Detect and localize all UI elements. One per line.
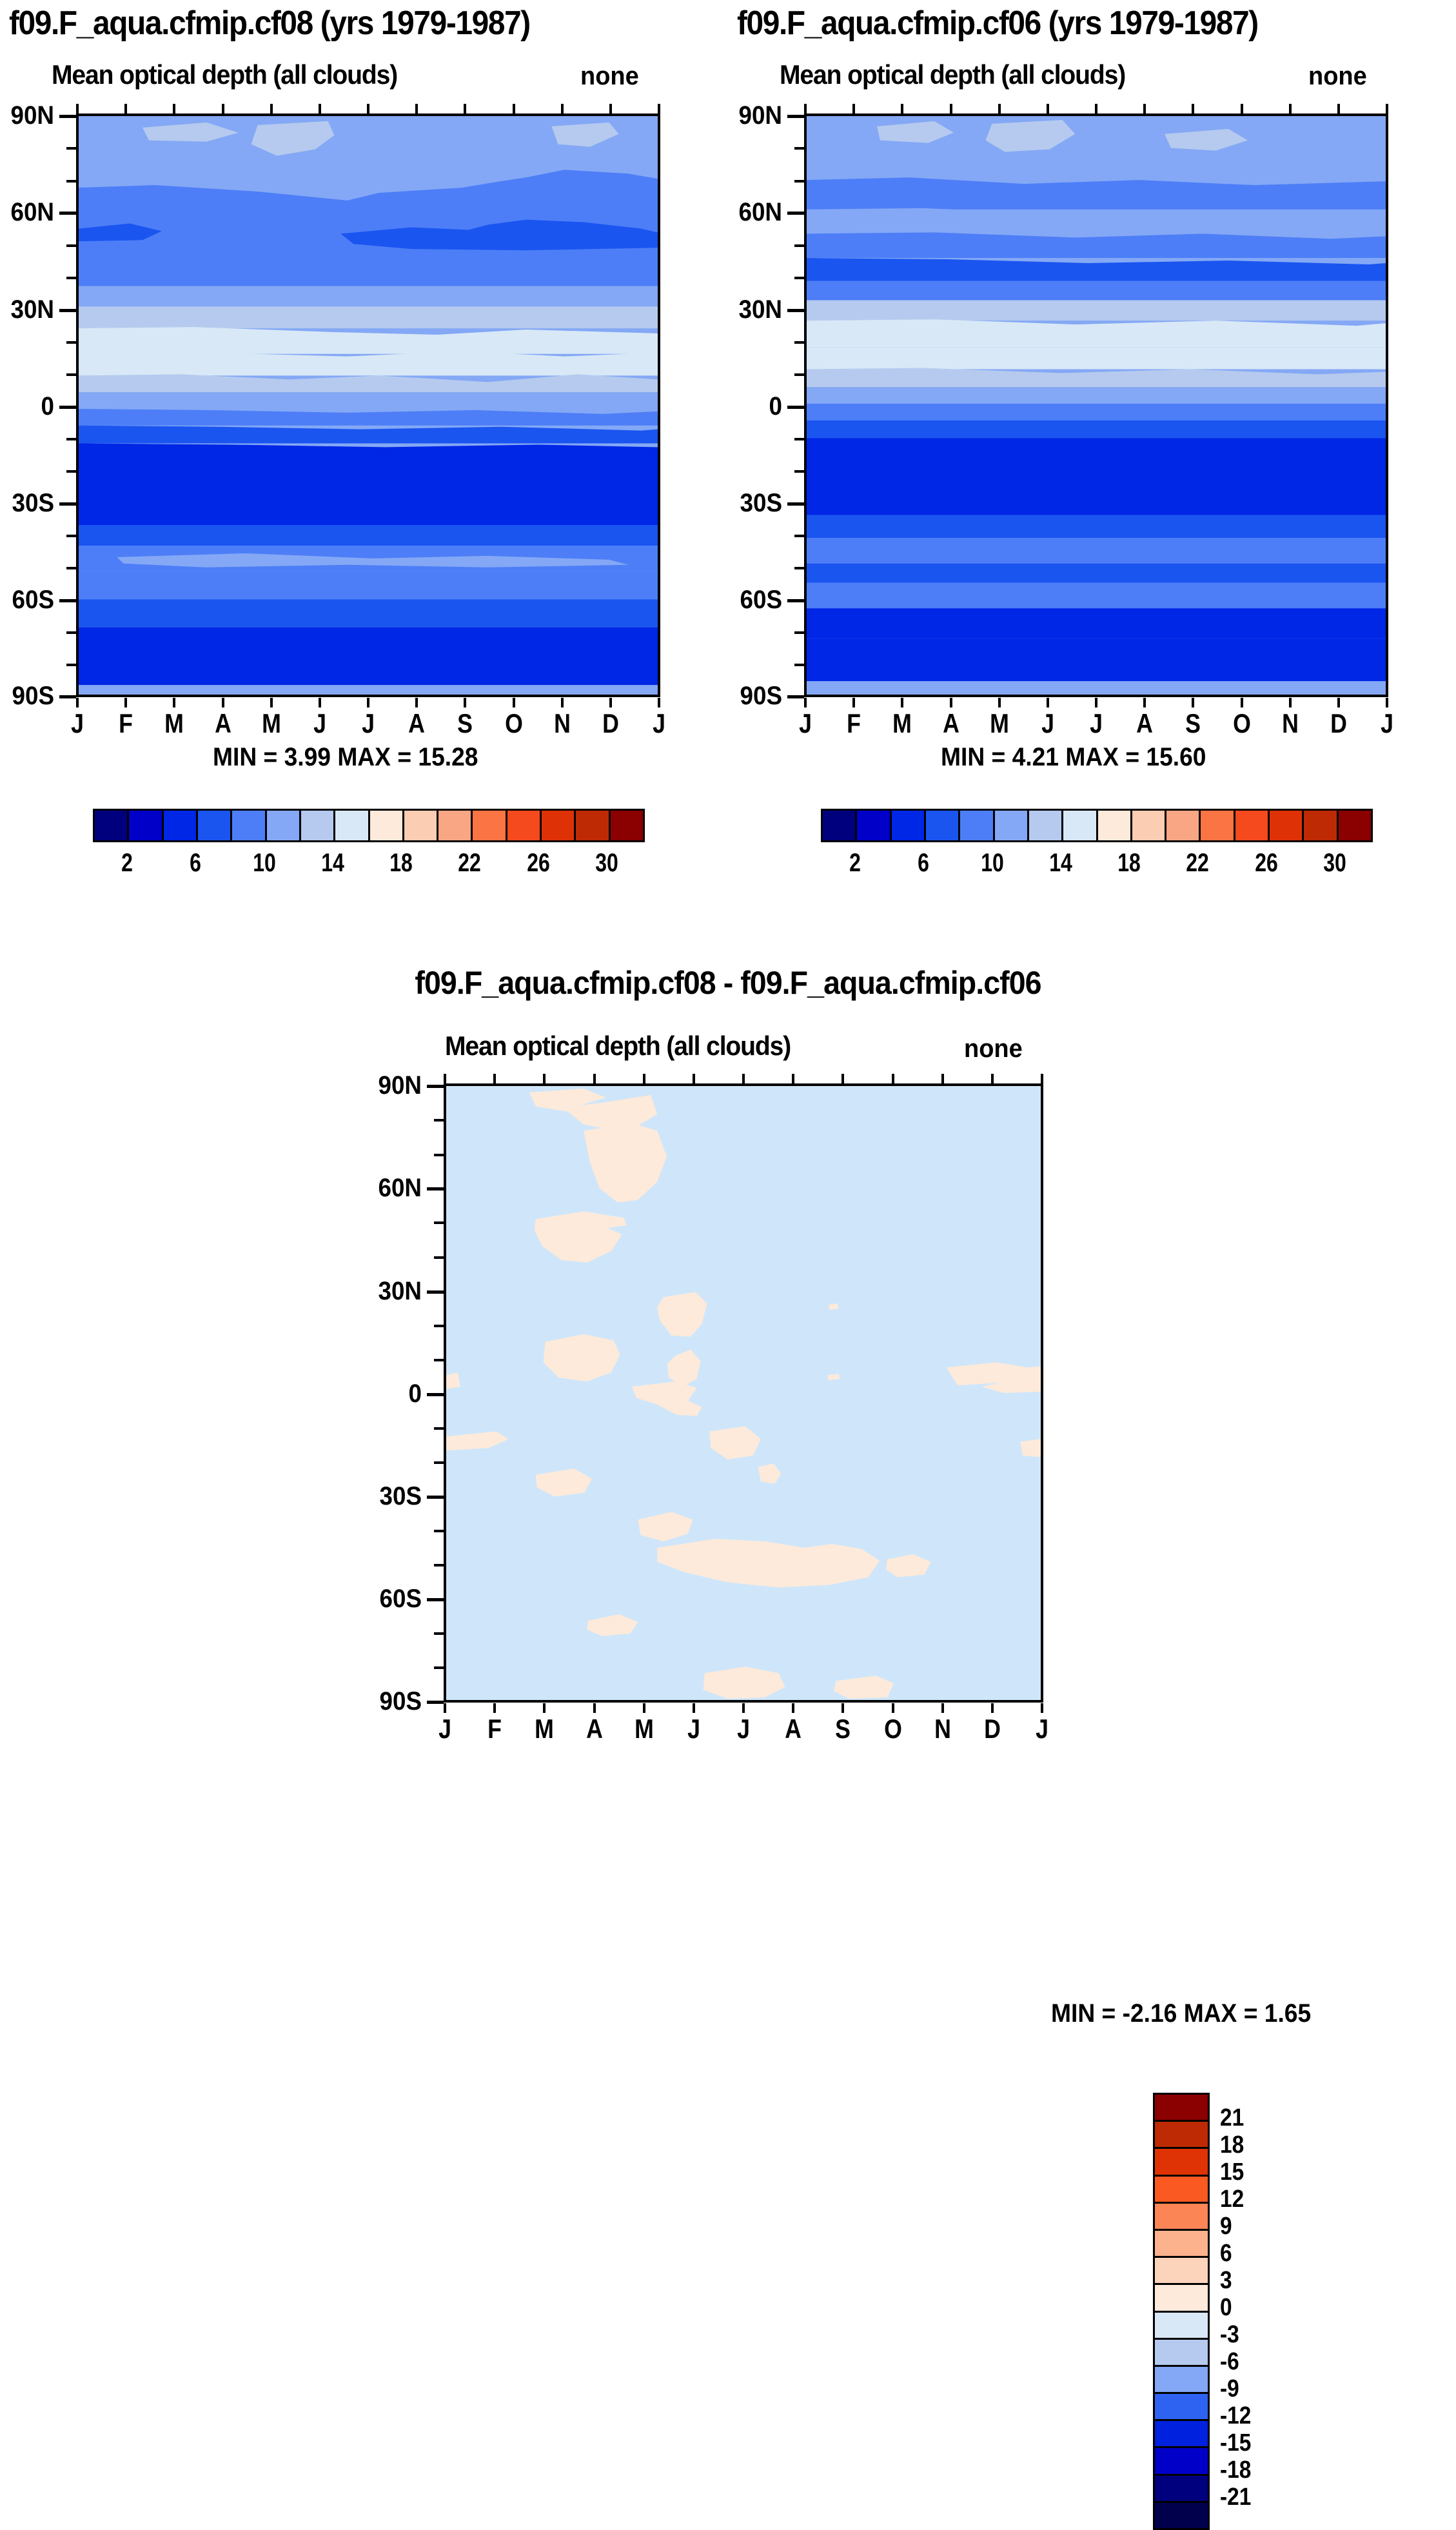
y-tick-minor-9 [66, 535, 76, 537]
y-tick-minor-12 [794, 664, 804, 666]
y-tick-minor-1 [66, 147, 76, 150]
colorbar-cell-7 [335, 811, 369, 840]
colorbar-cell-1 [129, 811, 163, 840]
y-label-30N: 30N [0, 295, 54, 324]
x-tick-bottom-J-5 [1047, 698, 1049, 707]
y-tick-minor-6 [66, 373, 76, 376]
x-tick-bottom-A-7 [792, 1703, 794, 1713]
diff-colorbar-label-0: 0 [1220, 2294, 1232, 2322]
y-label-90S: 90S [727, 682, 782, 711]
x-tick-bottom-D-11 [1337, 698, 1340, 707]
y-tick-30N [427, 1290, 444, 1294]
x-tick-bottom-F-1 [852, 698, 855, 707]
y-tick-minor-6 [434, 1359, 444, 1361]
x-label-8: S [443, 708, 487, 739]
y-tick-30N [787, 309, 804, 312]
colorbar-cell-2 [164, 811, 198, 840]
x-tick-top-J-0 [804, 104, 807, 114]
x-label-9: O [871, 1714, 915, 1744]
right-panel-title: f09.F_aqua.cfmip.cf06 (yrs 1979-1987) [737, 4, 1258, 43]
colorbar-label-6: 6 [170, 849, 221, 878]
colorbar-label-2: 2 [101, 849, 153, 878]
x-tick-top-D-11 [1337, 104, 1340, 114]
x-tick-top-M-2 [901, 104, 903, 114]
colorbar-cell-10 [438, 811, 473, 840]
x-tick-bottom-M-4 [643, 1703, 645, 1713]
diff-colorbar-label--15: -15 [1220, 2429, 1251, 2457]
y-label-60N: 60N [727, 198, 782, 227]
x-tick-bottom-A-3 [222, 698, 224, 707]
diff-colorbar-label--3: -3 [1220, 2321, 1239, 2349]
colorbar-cell-5 [267, 811, 301, 840]
x-label-6: J [1074, 708, 1118, 739]
diff-colorbar-cell-10 [1155, 2367, 1208, 2394]
colorbar-cell-11 [473, 811, 507, 840]
x-tick-bottom-O-9 [892, 1703, 894, 1713]
right-colorbar [821, 809, 1373, 842]
x-tick-top-J-6 [742, 1074, 745, 1083]
right-minmax: MIN = 4.21 MAX = 15.60 [941, 743, 1206, 772]
y-label-0: 0 [727, 392, 782, 421]
y-tick-minor-2 [66, 180, 76, 183]
left-panel-units: none [580, 62, 639, 91]
colorbar-cell-9 [404, 811, 438, 840]
diff-colorbar-cell-9 [1155, 2340, 1208, 2367]
left-contour-field [79, 116, 658, 695]
y-label-90N: 90N [727, 101, 782, 130]
x-label-1: F [832, 708, 876, 739]
x-tick-bottom-D-11 [609, 698, 612, 707]
y-tick-minor-11 [794, 631, 804, 634]
left-plot-area [76, 114, 660, 697]
difference-minmax: MIN = -2.16 MAX = 1.65 [1051, 1999, 1311, 2028]
colorbar-cell-8 [1098, 811, 1132, 840]
x-label-8: S [821, 1714, 865, 1744]
diff-colorbar-cell-2 [1155, 2149, 1208, 2176]
x-label-6: J [722, 1714, 765, 1744]
y-tick-minor-8 [794, 470, 804, 473]
y-tick-minor-7 [434, 1427, 444, 1430]
x-tick-bottom-D-11 [991, 1703, 994, 1713]
x-tick-top-F-1 [852, 104, 855, 114]
diff-colorbar-cell-8 [1155, 2313, 1208, 2340]
colorbar-cell-3 [198, 811, 232, 840]
x-label-6: J [346, 708, 390, 739]
x-label-3: A [201, 708, 245, 739]
y-tick-minor-8 [434, 1461, 444, 1464]
colorbar-cell-3 [926, 811, 960, 840]
x-tick-top-N-10 [1289, 104, 1292, 114]
x-tick-top-A-7 [1143, 104, 1146, 114]
y-tick-30S [59, 502, 76, 506]
diff-colorbar-cell-15 [1155, 2503, 1208, 2528]
x-tick-top-F-1 [124, 104, 127, 114]
x-label-7: A [395, 708, 438, 739]
x-label-2: M [152, 708, 196, 739]
y-label-30N: 30N [727, 295, 782, 324]
colorbar-label-14: 14 [1035, 849, 1087, 878]
x-tick-top-J-12 [658, 104, 660, 114]
colorbar-label-14: 14 [307, 849, 359, 878]
x-label-10: N [1268, 708, 1312, 739]
x-tick-bottom-J-0 [444, 1703, 446, 1713]
colorbar-cell-7 [1063, 811, 1097, 840]
y-tick-minor-2 [794, 180, 804, 183]
x-tick-top-F-1 [493, 1074, 496, 1083]
difference-contour-field [446, 1086, 1041, 1700]
panel-difference: f09.F_aqua.cfmip.cf08 - f09.F_aqua.cfmip… [0, 903, 1456, 1712]
x-tick-top-M-4 [998, 104, 1001, 114]
right-plot-area [804, 114, 1388, 697]
colorbar-cell-0 [823, 811, 857, 840]
colorbar-cell-15 [1339, 811, 1371, 840]
colorbar-label-18: 18 [375, 849, 427, 878]
x-tick-top-N-10 [941, 1074, 944, 1083]
x-tick-top-O-9 [1241, 104, 1243, 114]
y-tick-0 [59, 406, 76, 409]
y-label-30S: 30S [367, 1482, 422, 1511]
y-tick-minor-1 [794, 147, 804, 150]
x-tick-top-A-3 [222, 104, 224, 114]
y-tick-30S [787, 502, 804, 506]
x-tick-bottom-J-12 [658, 698, 660, 707]
y-tick-minor-5 [794, 341, 804, 344]
x-tick-bottom-J-6 [367, 698, 369, 707]
x-tick-bottom-M-2 [173, 698, 175, 707]
y-tick-90S [59, 695, 76, 698]
y-tick-minor-9 [434, 1530, 444, 1532]
x-tick-top-J-12 [1386, 104, 1388, 114]
x-tick-bottom-O-9 [1241, 698, 1243, 707]
x-tick-bottom-F-1 [124, 698, 127, 707]
x-label-10: N [921, 1714, 965, 1744]
y-tick-minor-6 [794, 373, 804, 376]
colorbar-cell-1 [857, 811, 891, 840]
diff-colorbar-cell-11 [1155, 2394, 1208, 2421]
colorbar-label-22: 22 [1172, 849, 1223, 878]
x-tick-bottom-S-8 [1192, 698, 1194, 707]
y-tick-90N [59, 115, 76, 118]
diff-colorbar-label--18: -18 [1220, 2456, 1251, 2484]
x-tick-bottom-M-2 [901, 698, 903, 707]
x-tick-top-M-2 [173, 104, 175, 114]
x-tick-bottom-J-6 [1095, 698, 1097, 707]
x-label-3: A [573, 1714, 616, 1744]
x-tick-top-J-6 [1095, 104, 1097, 114]
diff-colorbar-label--21: -21 [1220, 2484, 1251, 2511]
y-label-60N: 60N [0, 198, 54, 227]
x-tick-top-S-8 [1192, 104, 1194, 114]
left-panel-title: f09.F_aqua.cfmip.cf08 (yrs 1979-1987) [9, 4, 530, 43]
x-label-11: D [589, 708, 633, 739]
diff-colorbar-label-9: 9 [1220, 2213, 1232, 2240]
x-tick-bottom-A-7 [415, 698, 418, 707]
y-tick-minor-10 [434, 1564, 444, 1566]
diff-colorbar-cell-7 [1155, 2285, 1208, 2312]
y-tick-minor-12 [66, 664, 76, 666]
colorbar-label-18: 18 [1103, 849, 1155, 878]
y-label-30N: 30N [367, 1277, 422, 1306]
y-tick-minor-9 [794, 535, 804, 537]
colorbar-cell-12 [507, 811, 542, 840]
colorbar-cell-9 [1132, 811, 1166, 840]
x-label-2: M [522, 1714, 566, 1744]
x-tick-top-J-12 [1041, 1074, 1043, 1083]
diff-colorbar-cell-14 [1155, 2476, 1208, 2503]
x-tick-bottom-J-12 [1386, 698, 1388, 707]
left-colorbar [93, 809, 645, 842]
x-tick-top-A-3 [593, 1074, 596, 1083]
x-label-12: J [637, 708, 681, 739]
diff-colorbar-cell-0 [1155, 2095, 1208, 2122]
x-label-5: J [298, 708, 342, 739]
x-tick-bottom-J-6 [742, 1703, 745, 1713]
y-label-60N: 60N [367, 1174, 422, 1203]
colorbar-cell-14 [576, 811, 610, 840]
colorbar-label-30: 30 [1309, 849, 1361, 878]
colorbar-cell-12 [1235, 811, 1270, 840]
x-tick-top-D-11 [609, 104, 612, 114]
y-tick-minor-5 [66, 341, 76, 344]
x-tick-top-S-8 [464, 104, 466, 114]
difference-units: none [964, 1034, 1023, 1063]
colorbar-cell-10 [1166, 811, 1201, 840]
colorbar-cell-15 [611, 811, 643, 840]
x-tick-bottom-F-1 [493, 1703, 496, 1713]
diff-colorbar-label-3: 3 [1220, 2267, 1232, 2295]
y-tick-60S [787, 599, 804, 602]
diff-colorbar-label--12: -12 [1220, 2402, 1251, 2430]
y-tick-90S [787, 695, 804, 698]
y-tick-minor-11 [434, 1632, 444, 1635]
colorbar-label-26: 26 [1241, 849, 1292, 878]
y-label-0: 0 [367, 1379, 422, 1408]
x-tick-top-A-3 [950, 104, 952, 114]
x-label-12: J [1020, 1714, 1064, 1744]
x-label-0: J [783, 708, 827, 739]
difference-title: f09.F_aqua.cfmip.cf08 - f09.F_aqua.cfmip… [51, 964, 1405, 1002]
x-tick-bottom-M-2 [543, 1703, 546, 1713]
difference-plot-area [444, 1083, 1043, 1703]
diff-colorbar-cell-1 [1155, 2122, 1208, 2149]
diff-colorbar-cell-5 [1155, 2231, 1208, 2258]
x-tick-bottom-J-0 [76, 698, 79, 707]
y-tick-minor-4 [434, 1256, 444, 1259]
left-panel-subtitle: Mean optical depth (all clouds) [52, 59, 397, 90]
x-tick-bottom-N-10 [1289, 698, 1292, 707]
x-label-1: F [473, 1714, 516, 1744]
x-tick-top-O-9 [513, 104, 515, 114]
y-tick-30N [59, 309, 76, 312]
panel-right: f09.F_aqua.cfmip.cf06 (yrs 1979-1987) Me… [728, 0, 1456, 903]
x-tick-bottom-N-10 [941, 1703, 944, 1713]
diff-colorbar-label-12: 12 [1220, 2186, 1244, 2213]
x-label-3: A [929, 708, 973, 739]
y-label-90N: 90N [0, 101, 54, 130]
y-tick-minor-10 [794, 567, 804, 569]
x-tick-top-J-5 [693, 1074, 695, 1083]
x-tick-top-A-7 [792, 1074, 794, 1083]
x-label-4: M [978, 708, 1021, 739]
x-label-11: D [970, 1714, 1014, 1744]
diff-colorbar-label--9: -9 [1220, 2375, 1239, 2403]
y-label-90S: 90S [367, 1687, 422, 1716]
y-tick-30S [427, 1496, 444, 1499]
colorbar-label-22: 22 [444, 849, 495, 878]
y-tick-90S [427, 1701, 444, 1704]
y-tick-minor-11 [66, 631, 76, 634]
x-tick-bottom-A-3 [950, 698, 952, 707]
colorbar-cell-4 [232, 811, 266, 840]
colorbar-cell-13 [542, 811, 576, 840]
y-tick-minor-3 [66, 244, 76, 247]
right-panel-subtitle: Mean optical depth (all clouds) [780, 59, 1125, 90]
x-tick-bottom-M-4 [998, 698, 1001, 707]
diff-colorbar-label-21: 21 [1220, 2104, 1244, 2132]
y-tick-minor-8 [66, 470, 76, 473]
difference-subtitle: Mean optical depth (all clouds) [445, 1031, 791, 1062]
x-tick-top-J-6 [367, 104, 369, 114]
difference-colorbar [1153, 2093, 1210, 2530]
diff-colorbar-label-6: 6 [1220, 2240, 1232, 2268]
diff-colorbar-cell-12 [1155, 2421, 1208, 2448]
x-tick-top-A-7 [415, 104, 418, 114]
diff-colorbar-cell-4 [1155, 2204, 1208, 2231]
x-tick-top-O-9 [892, 1074, 894, 1083]
colorbar-label-10: 10 [239, 849, 290, 878]
x-tick-top-S-8 [841, 1074, 844, 1083]
x-tick-top-M-4 [643, 1074, 645, 1083]
y-label-60S: 60S [727, 586, 782, 615]
x-tick-bottom-S-8 [841, 1703, 844, 1713]
y-label-90S: 90S [0, 682, 54, 711]
colorbar-cell-11 [1201, 811, 1235, 840]
x-tick-bottom-S-8 [464, 698, 466, 707]
panel-left: f09.F_aqua.cfmip.cf08 (yrs 1979-1987) Me… [0, 0, 728, 903]
x-label-11: D [1317, 708, 1361, 739]
x-label-9: O [492, 708, 536, 739]
diff-colorbar-label-15: 15 [1220, 2159, 1244, 2186]
x-label-2: M [880, 708, 924, 739]
y-tick-minor-7 [66, 438, 76, 440]
y-tick-60N [427, 1187, 444, 1191]
x-tick-bottom-O-9 [513, 698, 515, 707]
y-label-30S: 30S [0, 489, 54, 518]
left-minmax: MIN = 3.99 MAX = 15.28 [213, 743, 478, 772]
y-tick-minor-2 [434, 1154, 444, 1156]
x-tick-bottom-N-10 [561, 698, 564, 707]
y-tick-minor-7 [794, 438, 804, 440]
right-panel-units: none [1308, 62, 1367, 91]
diff-colorbar-cell-6 [1155, 2258, 1208, 2285]
colorbar-cell-8 [370, 811, 404, 840]
x-tick-top-M-2 [543, 1074, 546, 1083]
y-label-90N: 90N [367, 1071, 422, 1100]
colorbar-cell-13 [1270, 811, 1304, 840]
x-tick-bottom-A-7 [1143, 698, 1146, 707]
right-contour-field [807, 116, 1386, 695]
colorbar-cell-14 [1304, 811, 1338, 840]
colorbar-cell-0 [95, 811, 129, 840]
x-label-1: F [104, 708, 148, 739]
x-label-4: M [622, 1714, 666, 1744]
colorbar-label-10: 10 [967, 849, 1018, 878]
x-tick-bottom-J-0 [804, 698, 807, 707]
y-tick-minor-4 [66, 277, 76, 279]
x-tick-bottom-A-3 [593, 1703, 596, 1713]
colorbar-cell-6 [301, 811, 335, 840]
y-label-0: 0 [0, 392, 54, 421]
x-tick-top-N-10 [561, 104, 564, 114]
y-tick-minor-5 [434, 1325, 444, 1327]
x-tick-bottom-M-4 [270, 698, 273, 707]
x-tick-bottom-J-12 [1041, 1703, 1043, 1713]
y-tick-minor-12 [434, 1666, 444, 1669]
y-tick-60S [427, 1598, 444, 1601]
colorbar-label-26: 26 [513, 849, 564, 878]
x-label-0: J [423, 1714, 467, 1744]
x-label-0: J [55, 708, 99, 739]
diff-colorbar-cell-3 [1155, 2177, 1208, 2204]
y-tick-minor-4 [794, 277, 804, 279]
x-tick-top-J-5 [319, 104, 321, 114]
x-tick-top-J-5 [1047, 104, 1049, 114]
y-tick-0 [787, 406, 804, 409]
colorbar-label-6: 6 [898, 849, 949, 878]
x-label-5: J [672, 1714, 716, 1744]
x-label-7: A [771, 1714, 815, 1744]
colorbar-cell-4 [960, 811, 994, 840]
x-label-12: J [1365, 708, 1409, 739]
diff-colorbar-cell-13 [1155, 2448, 1208, 2475]
y-tick-60N [59, 212, 76, 215]
y-tick-0 [427, 1393, 444, 1396]
colorbar-label-2: 2 [829, 849, 881, 878]
y-tick-60N [787, 212, 804, 215]
x-label-9: O [1220, 708, 1264, 739]
diff-colorbar-label--6: -6 [1220, 2348, 1239, 2376]
x-tick-top-J-0 [444, 1074, 446, 1083]
colorbar-cell-5 [995, 811, 1029, 840]
colorbar-cell-6 [1029, 811, 1063, 840]
y-tick-minor-3 [434, 1221, 444, 1224]
y-label-30S: 30S [727, 489, 782, 518]
y-tick-90N [427, 1085, 444, 1088]
x-label-8: S [1171, 708, 1215, 739]
x-tick-top-D-11 [991, 1074, 994, 1083]
y-label-60S: 60S [367, 1585, 422, 1614]
y-tick-60S [59, 599, 76, 602]
colorbar-label-30: 30 [581, 849, 633, 878]
x-label-10: N [540, 708, 584, 739]
y-tick-minor-3 [794, 244, 804, 247]
y-label-60S: 60S [0, 586, 54, 615]
colorbar-cell-2 [892, 811, 926, 840]
x-tick-top-M-4 [270, 104, 273, 114]
x-tick-bottom-J-5 [693, 1703, 695, 1713]
x-label-4: M [250, 708, 293, 739]
y-tick-minor-1 [434, 1119, 444, 1122]
x-label-5: J [1026, 708, 1070, 739]
y-tick-minor-10 [66, 567, 76, 569]
x-tick-top-J-0 [76, 104, 79, 114]
x-tick-bottom-J-5 [319, 698, 321, 707]
y-tick-90N [787, 115, 804, 118]
x-label-7: A [1123, 708, 1166, 739]
diff-colorbar-label-18: 18 [1220, 2131, 1244, 2159]
